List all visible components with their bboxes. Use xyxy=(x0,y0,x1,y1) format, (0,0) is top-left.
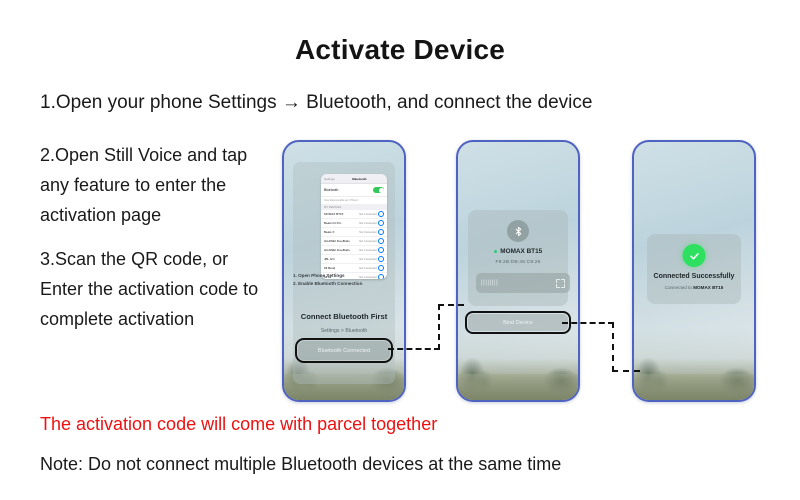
device-list-item[interactable]: Beats Fit ProNot Connected xyxy=(321,219,387,228)
device-list-item-name: HUAWEI FreeBuds xyxy=(324,239,350,243)
info-circle-icon[interactable] xyxy=(378,229,384,235)
device-list-item-name: HUAWEI FreeBuds xyxy=(324,248,350,252)
device-mac-address: F8:2B:DB:46:C9:26 xyxy=(468,260,568,265)
connector-1-segment-horizontal xyxy=(388,348,440,350)
connector-2-segment-vertical xyxy=(612,322,614,372)
success-card: Connected Successfully Connected to MOMA… xyxy=(647,234,741,304)
ios-nav-title: Bluetooth xyxy=(352,177,366,181)
device-list-item[interactable]: Beats XNot Connected xyxy=(321,228,387,237)
device-list-item-right: Not Connected xyxy=(359,238,384,244)
device-list-item[interactable]: JBL GONot Connected xyxy=(321,255,387,264)
ios-navbar: Settings Bluetooth xyxy=(321,174,387,184)
device-list-item-name: Beats X xyxy=(324,230,335,234)
status-dot-icon xyxy=(494,250,498,254)
bind-device-button[interactable]: Bind Device xyxy=(468,314,568,331)
wallpaper-landscape xyxy=(458,328,578,400)
phone1-bullets: 1. Open Phone Settings 2. Enable Bluetoo… xyxy=(293,272,381,288)
device-list-item-name: MI Band xyxy=(324,266,335,270)
device-list-item-status: Not Connected xyxy=(359,240,376,243)
phone1-bullet-1: 1. Open Phone Settings xyxy=(293,272,381,280)
warning-text: The activation code will come with parce… xyxy=(40,414,780,435)
activate-device-poster: Activate Device 1.Open your phone Settin… xyxy=(0,0,800,500)
phone1-subheading: Settings > Bluetooth xyxy=(284,328,404,334)
connector-1-segment-vertical xyxy=(438,304,440,350)
info-circle-icon[interactable] xyxy=(378,238,384,244)
ios-nav-back[interactable]: Settings xyxy=(324,177,335,181)
info-circle-icon[interactable] xyxy=(378,265,384,271)
device-list-item-name: MOMAX BT15 xyxy=(324,212,343,216)
device-list-item-status: Not Connected xyxy=(359,231,376,234)
device-identity-row: MOMAX BT15 xyxy=(468,248,568,255)
device-list-item-status: Not Connected xyxy=(359,267,376,270)
device-list-item-name: Beats Fit Pro xyxy=(324,221,341,225)
connector-1-segment-arrow xyxy=(438,304,464,306)
device-name: MOMAX BT15 xyxy=(500,248,542,255)
success-subtitle: Connected to MOMAX BT15 xyxy=(647,285,741,290)
phone1-bullet-2: 2. Enable Bluetooth Connection xyxy=(293,280,381,288)
phone1-heading: Connect Bluetooth First xyxy=(284,312,404,321)
device-list-item-right: Not Connected xyxy=(359,229,384,235)
phone-mockup-2: MOMAX BT15 F8:2B:DB:46:C9:26 |||||||| Bi… xyxy=(456,140,580,402)
page-title: Activate Device xyxy=(0,34,800,66)
device-list-item-right: Not Connected xyxy=(359,211,384,217)
bluetooth-icon xyxy=(507,220,529,242)
wallpaper-landscape xyxy=(634,328,754,400)
success-title: Connected Successfully xyxy=(647,273,741,280)
phone-mockup-3: Connected Successfully Connected to MOMA… xyxy=(632,140,756,402)
ios-bluetooth-settings: Settings Bluetooth Bluetooth Now discove… xyxy=(321,174,387,279)
device-list-item[interactable]: HUAWEI FreeBudsNot Connected xyxy=(321,246,387,255)
bluetooth-toggle-row[interactable]: Bluetooth xyxy=(321,184,387,197)
bluetooth-toggle-label: Bluetooth xyxy=(324,188,338,192)
device-list-item-status: Not Connected xyxy=(359,222,376,225)
check-circle-icon xyxy=(683,244,706,267)
qr-scan-icon[interactable] xyxy=(556,279,565,288)
device-list-item-right: Not Connected xyxy=(359,256,384,262)
activation-code-placeholder: |||||||| xyxy=(481,280,498,286)
success-subtitle-device: MOMAX BT15 xyxy=(693,285,723,290)
device-list-item[interactable]: MOMAX BT15Not Connected xyxy=(321,210,387,219)
activation-code-input[interactable]: |||||||| xyxy=(476,273,570,293)
instruction-step-1: 1.Open your phone Settings → Bluetooth, … xyxy=(40,92,760,114)
instruction-step-2: 2.Open Still Voice and tap any feature t… xyxy=(40,140,272,230)
info-circle-icon[interactable] xyxy=(378,256,384,262)
bluetooth-toggle-switch[interactable] xyxy=(373,187,384,193)
device-list-item-right: Not Connected xyxy=(359,247,384,253)
discoverable-subtitle: Now discoverable as “iPhone”. xyxy=(321,197,387,204)
instruction-step-3: 3.Scan the QR code, or Enter the activat… xyxy=(40,244,272,334)
device-list-item[interactable]: HUAWEI FreeBudsNot Connected xyxy=(321,237,387,246)
device-list-item-right: Not Connected xyxy=(359,220,384,226)
bluetooth-connected-button[interactable]: Bluetooth Connected xyxy=(298,341,390,360)
info-circle-icon[interactable] xyxy=(378,220,384,226)
info-circle-icon[interactable] xyxy=(378,247,384,253)
connector-2-segment-arrow xyxy=(612,370,640,372)
device-list-item-status: Not Connected xyxy=(359,249,376,252)
device-list-item-name: JBL GO xyxy=(324,257,335,261)
device-list: MOMAX BT15Not ConnectedBeats Fit ProNot … xyxy=(321,210,387,279)
phone-mockup-1: Settings Bluetooth Bluetooth Now discove… xyxy=(282,140,406,402)
connector-2-segment-horizontal xyxy=(562,322,614,324)
info-circle-icon[interactable] xyxy=(378,211,384,217)
note-text: Note: Do not connect multiple Bluetooth … xyxy=(40,454,780,475)
device-list-item-status: Not Connected xyxy=(359,258,376,261)
device-list-item-right: Not Connected xyxy=(359,265,384,271)
instruction-list: 2.Open Still Voice and tap any feature t… xyxy=(40,140,272,348)
bind-device-card: MOMAX BT15 F8:2B:DB:46:C9:26 |||||||| xyxy=(468,210,568,306)
success-subtitle-prefix: Connected to xyxy=(665,285,694,290)
device-list-item-status: Not Connected xyxy=(359,213,376,216)
